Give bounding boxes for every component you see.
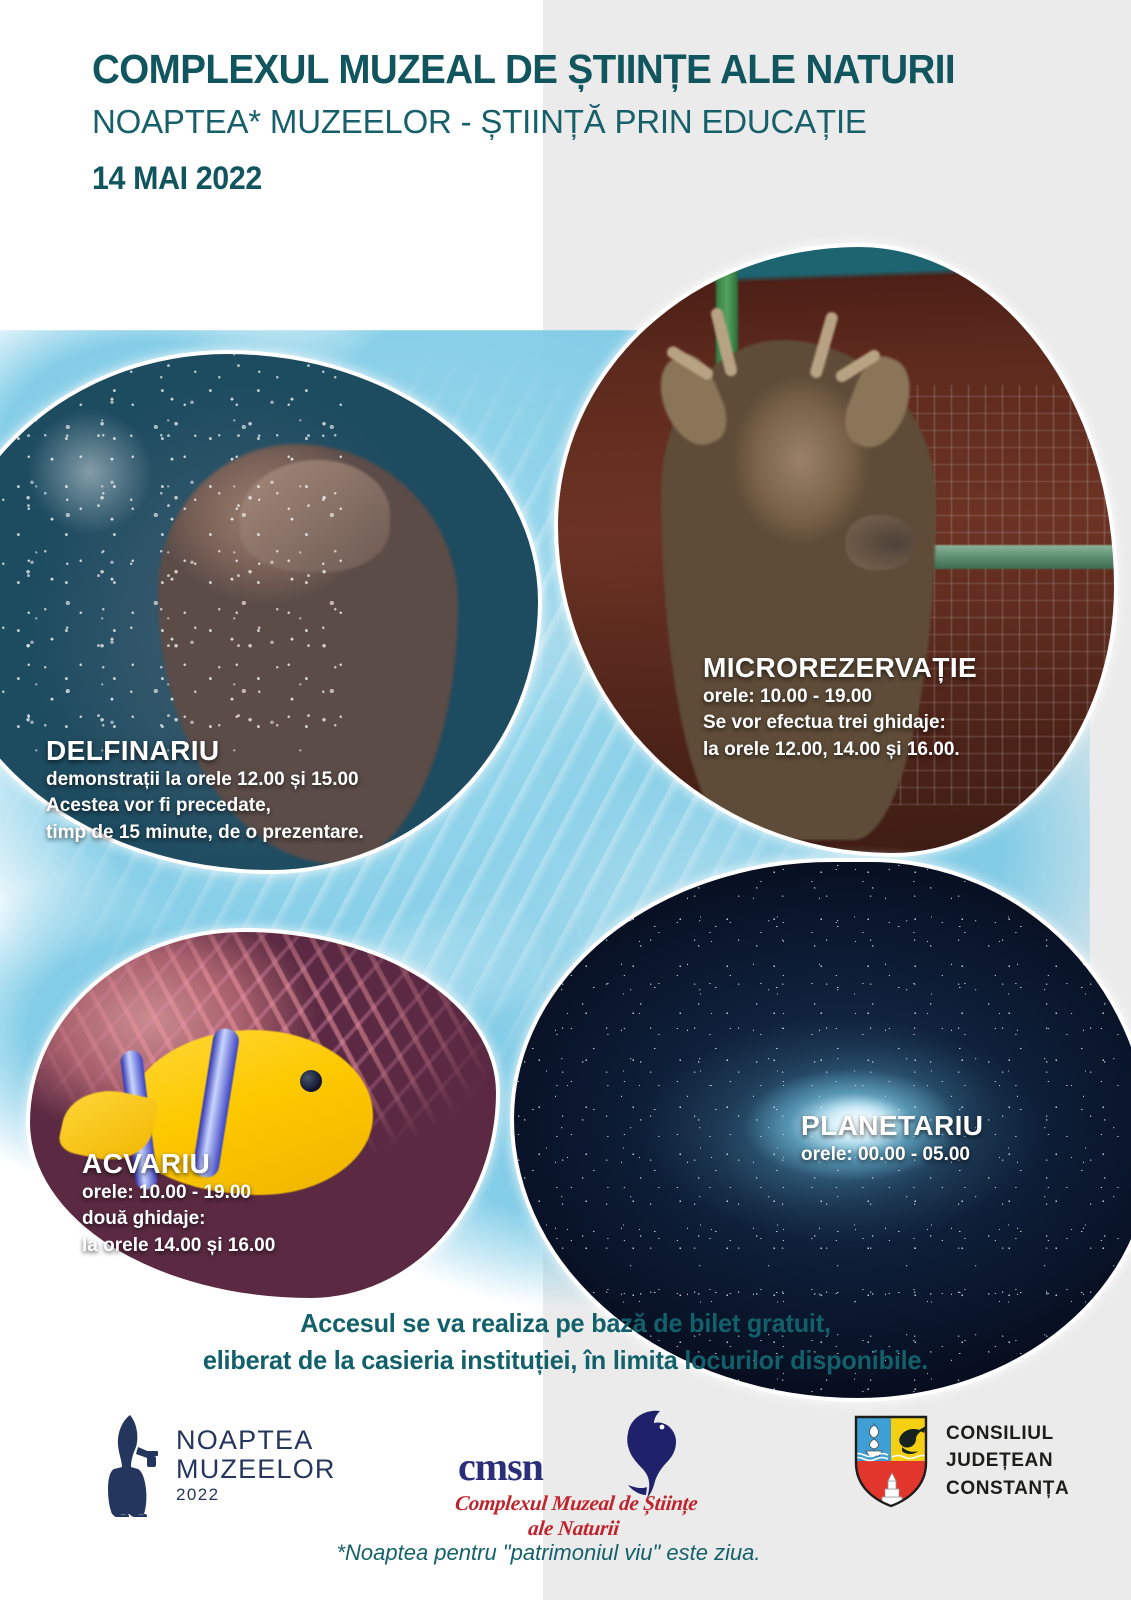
microrezervatie-line-3: la orele 12.00, 14.00 și 16.00. [703,737,977,763]
cmsn-full-name: Complexul Muzeal de Științe ale Naturii [437,1491,712,1541]
delfinariu-title: DELFINARIU [46,735,364,767]
logo-row: NOAPTEA MUZEELOR 2022 cmsn Complexul Muz… [0,1405,1131,1535]
page-subtitle: NOAPTEA* MUZEELOR - ȘTIINȚĂ PRIN EDUCAȚI… [92,104,1052,140]
access-line-2: eliberat de la casieria instituției, în … [17,1342,1114,1379]
microrezervatie-line-1: orele: 10.00 - 19.00 [703,684,977,710]
access-info: Accesul se va realiza pe bază de bilet g… [0,1305,1131,1379]
noaptea-logo-line-1: NOAPTEA [176,1427,336,1454]
microrezervatie-title: MICROREZERVAȚIE [703,652,977,684]
access-line-1: Accesul se va realiza pe bază de bilet g… [17,1305,1114,1342]
acvariu-line-1: orele: 10.00 - 19.00 [82,1180,275,1206]
cmsn-logo: cmsn Complexul Muzeal de Științe ale Nat… [440,1445,710,1541]
cj-line-1: CONSILIUL [946,1420,1069,1448]
dolphin-icon [600,1403,692,1499]
event-date: 14 MAI 2022 [92,160,1004,197]
acvariu-line-3: la orele 14.00 și 16.00 [82,1233,275,1259]
planetariu-line-1: orele: 00.00 - 05.00 [801,1142,983,1168]
planetariu-caption: PLANETARIU orele: 00.00 - 05.00 [801,1110,983,1168]
acvariu-caption: ACVARIU orele: 10.00 - 19.00 două ghidaj… [82,1148,275,1259]
noaptea-muzeelor-logo: NOAPTEA MUZEELOR 2022 [100,1413,336,1517]
acvariu-line-2: două ghidaje: [82,1206,275,1232]
consiliul-judetean-logo: CONSILIUL JUDEȚEAN CONSTANȚA [852,1413,1069,1509]
noaptea-logo-year: 2022 [176,1486,336,1503]
asterisk-footnote: *Noaptea pentru "patrimoniul viu" este z… [0,1540,1131,1566]
poster-canvas: COMPLEXUL MUZEAL DE ȘTIINȚE ALE NATURII … [0,0,1131,1600]
delfinariu-caption: DELFINARIU demonstrații la orele 12.00 ș… [46,735,364,846]
lantern-figure-icon [100,1413,162,1517]
cj-line-3: CONSTANȚA [946,1475,1069,1503]
constanta-coat-of-arms-icon [852,1413,930,1509]
microrezervatie-line-2: Se vor efectua trei ghidaje: [703,710,977,736]
acvariu-title: ACVARIU [82,1148,275,1180]
delfinariu-line-3: timp de 15 minute, de o prezentare. [46,820,364,846]
noaptea-logo-line-2: MUZEELOR [176,1456,336,1483]
noaptea-logo-text: NOAPTEA MUZEELOR 2022 [176,1427,336,1503]
cmsn-acronym-row: cmsn [440,1445,710,1491]
microrezervatie-caption: MICROREZERVAȚIE orele: 10.00 - 19.00 Se … [703,652,977,763]
clownfish-eye [300,1070,322,1092]
page-title: COMPLEXUL MUZEAL DE ȘTIINȚE ALE NATURII [92,48,994,91]
cj-line-2: JUDEȚEAN [946,1447,1069,1475]
deer-snout [846,515,916,570]
planetariu-title: PLANETARIU [801,1110,983,1142]
delfinariu-line-2: Acestea vor fi precedate, [46,793,364,819]
water-bubbles [0,352,350,752]
cmsn-acronym: cmsn [458,1443,543,1490]
delfinariu-line-1: demonstrații la orele 12.00 și 15.00 [46,767,364,793]
consiliul-judetean-text: CONSILIUL JUDEȚEAN CONSTANȚA [946,1420,1069,1503]
poster-header: COMPLEXUL MUZEAL DE ȘTIINȚE ALE NATURII … [92,48,1052,197]
